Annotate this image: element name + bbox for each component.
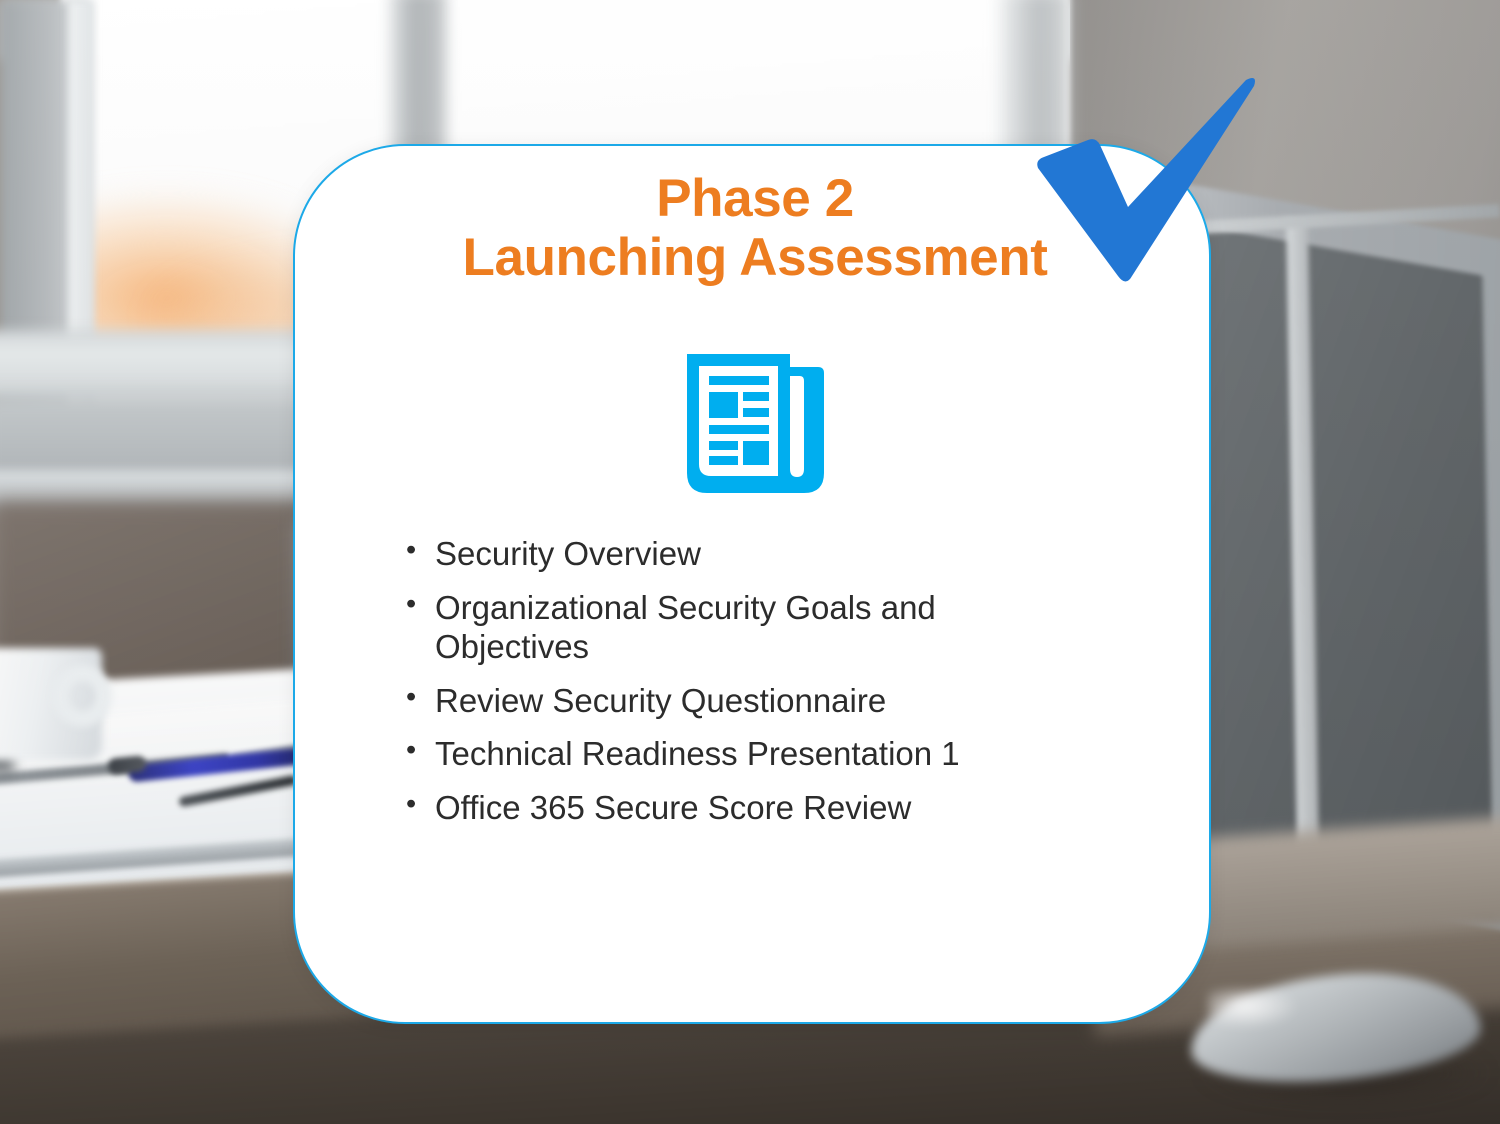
title-line-1: Phase 2 xyxy=(656,169,854,228)
bg-coffee-mug-handle xyxy=(52,665,112,727)
bg-laptop-screen xyxy=(1182,222,1493,917)
list-item: Organizational Security Goals and Object… xyxy=(403,588,1093,667)
page-title: Phase 2 Launching Assessment xyxy=(355,170,1155,288)
list-item: Review Security Questionnaire xyxy=(403,681,1093,721)
bg-mouse-highlight xyxy=(1208,988,1298,1028)
list-item: Security Overview xyxy=(403,534,1093,574)
content-card: Phase 2 Launching Assessment xyxy=(293,144,1211,1024)
title-line-2: Launching Assessment xyxy=(355,229,1155,288)
newspaper-icon xyxy=(682,346,832,501)
list-item: Technical Readiness Presentation 1 xyxy=(403,734,1093,774)
list-item: Office 365 Secure Score Review xyxy=(403,788,1093,828)
bullet-list: Security Overview Organizational Securit… xyxy=(403,534,1093,842)
